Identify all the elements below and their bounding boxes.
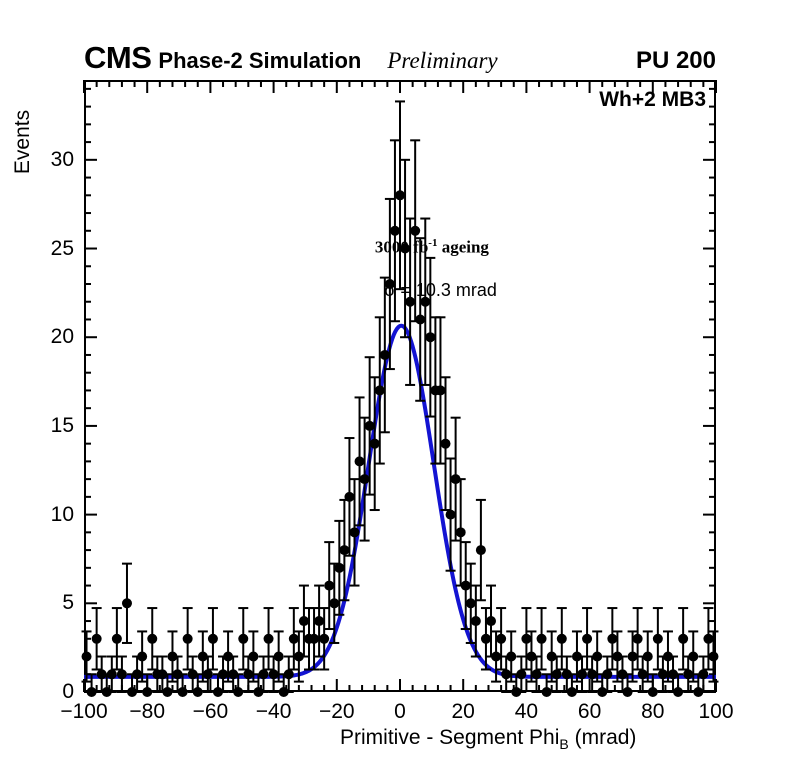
luminosity-label: 3000 fb-1 ageing <box>375 237 489 258</box>
x-tick-label: 60 <box>578 700 601 724</box>
x-tick-label: 20 <box>452 700 475 724</box>
y-tick-label: 20 <box>26 325 74 349</box>
x-tick-label: 100 <box>698 700 733 724</box>
y-tick-label: 15 <box>26 414 74 438</box>
y-tick-label: 10 <box>26 503 74 527</box>
y-tick-label: 30 <box>26 148 74 172</box>
x-tick-label: −80 <box>129 700 165 724</box>
x-axis-title-subscript: B <box>559 736 568 752</box>
y-tick-label: 5 <box>26 591 74 615</box>
lumi-exponent: -1 <box>428 237 437 249</box>
x-tick-label: −60 <box>193 700 229 724</box>
plot-frame: Wh+2 MB3 3000 fb-1 ageing σ = 10.3 mrad <box>84 80 716 692</box>
cms-subtitle: Phase-2 Simulation <box>158 50 361 72</box>
y-tick-label: 25 <box>26 237 74 261</box>
x-tick-label: 0 <box>394 700 406 724</box>
plot-canvas: CMS Phase-2 Simulation Preliminary PU 20… <box>0 0 796 772</box>
lumi-suffix: ageing <box>437 238 488 257</box>
cms-header: CMS Phase-2 Simulation Preliminary PU 20… <box>84 42 716 76</box>
x-axis-title-units: (mrad) <box>569 726 637 749</box>
y-axis-title: Events <box>11 97 35 187</box>
cms-logo: CMS <box>84 42 151 73</box>
y-tick-label: 0 <box>26 680 74 704</box>
region-label: Wh+2 MB3 <box>599 88 706 112</box>
x-tick-label: 40 <box>515 700 538 724</box>
x-axis-title-main: Primitive - Segment Phi <box>340 726 559 749</box>
x-axis-title: Primitive - Segment PhiB (mrad) <box>340 726 636 752</box>
x-tick-label: −40 <box>256 700 292 724</box>
x-tick-label: 80 <box>641 700 664 724</box>
lumi-value: 3000 fb <box>375 238 428 257</box>
sigma-label: σ = 10.3 mrad <box>384 280 497 301</box>
cms-preliminary-label: Preliminary <box>387 49 497 72</box>
pileup-label: PU 200 <box>636 49 716 73</box>
x-tick-label: −20 <box>319 700 355 724</box>
